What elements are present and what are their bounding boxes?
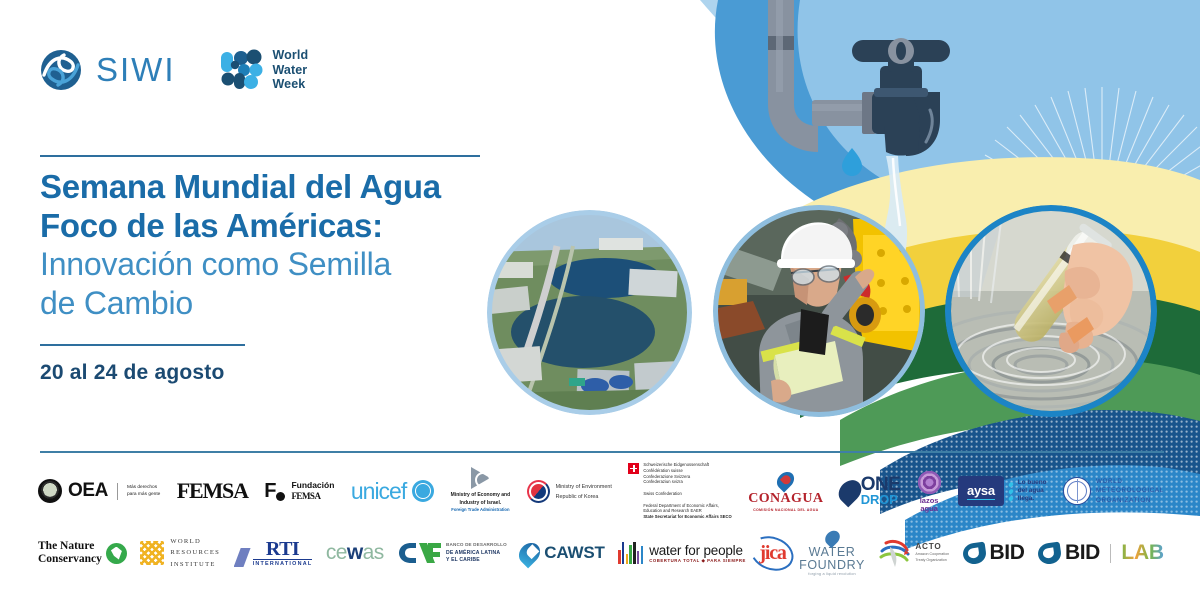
swiss-line-5: Swiss Confederation [643, 491, 682, 496]
israel-line-3: Foreign Trade Administration [451, 507, 509, 512]
wmo-line-2: METEOROLOGICAL [1096, 487, 1164, 494]
water-for-people-bars-icon [618, 542, 643, 564]
unicef-logo[interactable]: unicef [351, 478, 434, 505]
rti-mark-icon [234, 548, 251, 567]
swiss-flag-icon [628, 463, 639, 474]
korea-line-1: Ministry of Environment [556, 484, 612, 490]
water-for-people-logo[interactable]: water for people COBERTURA TOTAL ◆ PARA … [618, 542, 746, 564]
event-date: 20 al 24 de agosto [40, 361, 225, 385]
korea-line-2: Republic of Korea [556, 494, 599, 500]
aysa-tag-2: del agua [1018, 487, 1044, 494]
caf-line-1: BANCO DE DESARROLLO [446, 542, 507, 547]
www-line-3: Week [273, 77, 309, 92]
one-drop-line-2: DROP [861, 494, 898, 506]
cawst-logo[interactable]: CAWST [520, 542, 604, 565]
wfp-sub: COBERTURA TOTAL ◆ PARA SIEMPRE [649, 558, 746, 564]
aysa-wordmark-text: aysa [967, 483, 995, 500]
poster-canvas: SIWI World Water Week Semana Mundia [0, 0, 1200, 600]
korea-wordmark: Ministry of Environment Republic of Kore… [556, 481, 612, 501]
femsa-wordmark: FEMSA [177, 478, 248, 504]
israel-line-1: Ministry of Economy and [451, 492, 510, 498]
fundacion-line-2: FEMSA [291, 491, 320, 501]
sponsor-divider-rule [40, 451, 1164, 453]
sponsor-row-2: The Nature Conservancy WORLD RESOURCES I… [38, 524, 1164, 582]
tnc-line-2: Conservancy [38, 553, 102, 565]
jica-logo[interactable]: jica [759, 542, 785, 565]
fundacion-femsa-mark-icon: F [264, 480, 285, 503]
cewas-logo[interactable]: cewas [326, 541, 384, 565]
cewas-part-1: ce [326, 541, 347, 564]
oea-logo[interactable]: OEA Más derechos para más gente [38, 479, 160, 503]
one-drop-logo[interactable]: ONE DROP [840, 476, 900, 506]
oea-tagline: Más derechos para más gente [127, 484, 160, 498]
korea-taegeuk-icon [527, 480, 550, 503]
swiss-line-2: Confédération suisse [643, 468, 682, 473]
swiss-line-4: Confederaziun svizra [643, 479, 682, 484]
www-line-1: World [273, 48, 309, 63]
cawst-droplet-icon [515, 538, 545, 568]
acto-line-2: Treaty Organization [915, 558, 946, 562]
aysa-tag-3: llega. [1018, 495, 1034, 502]
rti-sub: INTERNATIONAL [253, 559, 313, 567]
israel-wordmark: Ministry of Economy and Industry of Isra… [451, 492, 510, 515]
world-water-week-logo[interactable]: World Water Week [220, 48, 309, 92]
oea-wordmark: OEA [68, 480, 108, 502]
bid-lab-wordmark: BID [1065, 541, 1100, 565]
acto-swirl-icon [878, 537, 912, 569]
femsa-logo[interactable]: FEMSA [177, 478, 248, 504]
caf-wordmark: BANCO DE DESARROLLO DE AMÉRICA LATINA Y … [446, 541, 507, 566]
fundacion-femsa-dot [276, 492, 285, 501]
swiss-confederation-seco-logo[interactable]: Schweizerische Eidgenossenschaft Confédé… [628, 462, 731, 520]
tnc-wordmark: The Nature Conservancy [38, 540, 102, 566]
engineer-inspecting-machinery-photo [713, 205, 925, 417]
sponsor-logo-strip: OEA Más derechos para más gente FEMSA F … [38, 462, 1164, 582]
wri-line-3: INSTITUTE [170, 561, 215, 568]
wmo-globe-icon [1063, 477, 1091, 505]
bid-lab-mark-icon [1037, 541, 1063, 565]
acto-line-1: Amazon Cooperation [915, 552, 949, 556]
water-for-people-wordmark: water for people COBERTURA TOTAL ◆ PARA … [649, 543, 746, 564]
aysa-tagline: Lo bueno del agua llega. [1018, 479, 1047, 503]
rti-wordmark: RTI INTERNATIONAL [253, 539, 313, 567]
caf-logo[interactable]: BANCO DE DESARROLLO DE AMÉRICA LATINA Y … [397, 541, 507, 566]
conagua-logo[interactable]: CONAGUA COMISIÓN NACIONAL DEL AGUA [748, 471, 823, 512]
ministry-of-environment-korea-logo[interactable]: Ministry of Environment Republic of Kore… [527, 480, 612, 503]
world-meteorological-organization-logo[interactable]: WORLD METEOROLOGICAL ORGANIZATION [1063, 477, 1164, 505]
lazos-line-2: agua [920, 504, 938, 513]
oea-tagline-2: para más gente [127, 492, 160, 497]
swiss-line-3: Confederazione Svizzera [643, 474, 690, 479]
aysa-badge: aysa [958, 476, 1004, 506]
lazos-agua-burst-icon [917, 470, 942, 495]
unicef-wordmark: unicef [351, 478, 406, 505]
oea-tagline-1: Más derechos [127, 485, 157, 490]
world-water-week-mark-icon [220, 49, 264, 91]
swiss-line-7: Education and Research EAER [643, 508, 701, 513]
caf-line-2: DE AMÉRICA LATINA [446, 550, 500, 556]
one-drop-wordmark: ONE DROP [861, 476, 900, 506]
acto-sub: Amazon Cooperation Treaty Organization [915, 552, 949, 562]
swiss-line-1: Schweizerische Eidgenossenschaft [643, 462, 709, 467]
one-drop-line-1: ONE [861, 476, 900, 493]
headline-top-rule [40, 155, 480, 157]
cewas-part-3: as [363, 541, 384, 564]
swiss-wordmark: Schweizerische Eidgenossenschaft Confédé… [643, 462, 731, 520]
headline-line-4: de Cambio [40, 284, 510, 322]
cewas-wordmark: cewas [326, 541, 384, 565]
wri-wordmark: WORLD RESOURCES INSTITUTE [170, 536, 220, 570]
bid-lab-logo[interactable]: BID LAB [1038, 541, 1164, 565]
tnc-oak-leaf-icon [106, 543, 127, 564]
jica-mark: jica [759, 542, 785, 565]
bid-lab-divider [1110, 544, 1111, 563]
headline-line-2: Foco de las Américas: [40, 207, 510, 246]
world-resources-institute-logo[interactable]: WORLD RESOURCES INSTITUTE [140, 536, 220, 570]
bid-logo[interactable]: BID [963, 541, 1025, 565]
bid-mark-icon [961, 541, 987, 565]
rti-international-logo[interactable]: RTI INTERNATIONAL [234, 539, 313, 567]
wmo-line-1: WORLD [1096, 478, 1123, 485]
swiss-line-6: Federal Department of Economic Affairs, [643, 503, 719, 508]
brand-logo-row: SIWI World Water Week [40, 48, 308, 92]
siwi-logo[interactable]: SIWI [40, 49, 176, 91]
wmo-line-3: ORGANIZATION [1096, 497, 1151, 504]
cewas-part-2: w [347, 541, 363, 564]
wri-line-1: WORLD [170, 538, 201, 545]
acto-wordmark: ACTO Amazon Cooperation Treaty Organizat… [915, 543, 949, 563]
tnc-line-1: The Nature [38, 542, 94, 552]
the-nature-conservancy-logo[interactable]: The Nature Conservancy [38, 540, 127, 566]
headline-block: Semana Mundial del Agua Foco de las Amér… [40, 168, 510, 322]
fundacion-femsa-f: F [264, 480, 275, 503]
fundacion-femsa-wordmark: Fundación FEMSA [291, 480, 334, 502]
headline-bottom-rule [40, 344, 245, 346]
bid-wordmark: BID [990, 541, 1025, 565]
photo-ring-1 [487, 210, 692, 415]
aysa-logo[interactable]: aysa Lo bueno del agua llega. [958, 476, 1047, 506]
conagua-wordmark: CONAGUA [748, 491, 823, 507]
jica-ring-icon [746, 530, 799, 576]
bid-lab-label: LAB [1121, 541, 1164, 565]
fundacion-line-1: Fundación [291, 480, 334, 490]
swiss-line-8: State Secretariat for Economic Affairs S… [643, 514, 731, 519]
israel-play-icon [471, 467, 490, 489]
wfp-word: water for people [649, 543, 746, 558]
world-water-week-wordmark: World Water Week [273, 48, 309, 92]
aysa-drops-icon [1009, 482, 1013, 501]
wri-line-2: RESOURCES [170, 549, 220, 556]
acto-logo[interactable]: ACTO Amazon Cooperation Treaty Organizat… [878, 537, 949, 569]
wf-line-2: FOUNDRY [799, 558, 865, 572]
aysa-wordmark: aysa [967, 483, 995, 500]
www-line-2: Water [273, 63, 309, 78]
headline-line-1: Semana Mundial del Agua [40, 168, 510, 207]
unicef-globe-icon [412, 480, 434, 502]
rti-word: RTI [266, 539, 299, 559]
conagua-drop-icon [774, 468, 798, 492]
oea-divider [117, 483, 118, 500]
wmo-wordmark: WORLD METEOROLOGICAL ORGANIZATION [1096, 477, 1164, 505]
aerial-industrial-water-treatment-photo [487, 210, 692, 415]
photo-ring-3 [945, 205, 1157, 417]
lazos-agua-logo[interactable]: lazos agua [917, 470, 942, 513]
headline-line-3: Innovación como Semilla [40, 245, 510, 283]
wri-lattice-icon [140, 541, 164, 565]
conagua-tagline: COMISIÓN NACIONAL DEL AGUA [753, 508, 818, 512]
siwi-mark-icon [40, 49, 82, 91]
water-sample-test-tube-photo [945, 205, 1157, 417]
aysa-tag-1: Lo bueno [1018, 479, 1047, 486]
siwi-wordmark: SIWI [96, 53, 176, 86]
israel-line-2: Industry of Israel. [460, 500, 502, 506]
caf-mark-icon [397, 541, 441, 565]
caf-line-3: Y EL CARIBE [446, 557, 480, 563]
fundacion-femsa-logo[interactable]: F Fundación FEMSA [264, 480, 334, 503]
oea-seal-icon [38, 479, 62, 503]
photo-ring-2 [713, 205, 925, 417]
ministry-of-economy-israel-logo[interactable]: Ministry of Economy and Industry of Isra… [451, 467, 510, 515]
water-foundry-wordmark: WATER FOUNDRY [799, 546, 865, 572]
lazos-agua-wordmark: lazos agua [920, 497, 939, 513]
acto-word: ACTO [915, 543, 949, 551]
cawst-wordmark: CAWST [544, 543, 604, 563]
water-foundry-logo[interactable]: WATER FOUNDRY forging a liquid revolutio… [799, 530, 865, 576]
wf-sub: forging a liquid revolution [808, 572, 856, 576]
sponsor-row-1: OEA Más derechos para más gente FEMSA F … [38, 462, 1164, 520]
